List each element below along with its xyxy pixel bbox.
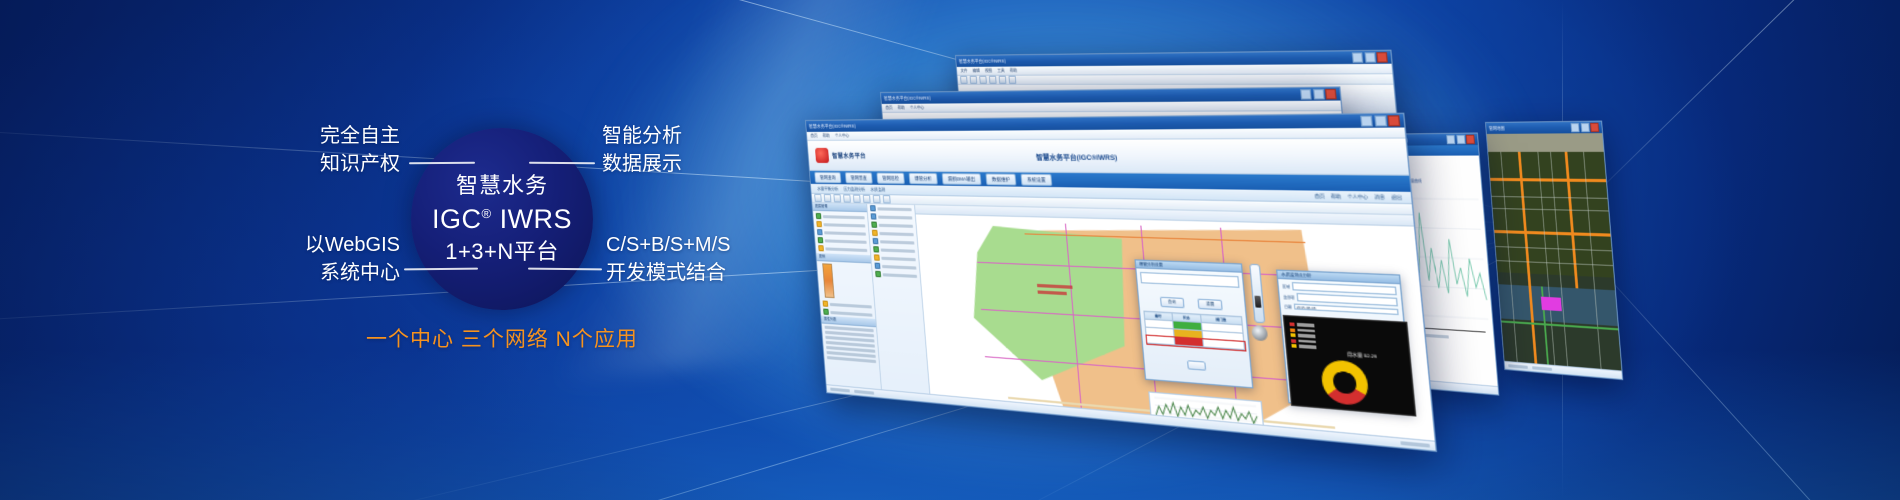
col-header: 编号 bbox=[1144, 311, 1172, 321]
window-title: 智慧水务平台(IGC®IWRS) bbox=[959, 58, 1006, 64]
window-controls[interactable] bbox=[1360, 115, 1400, 126]
hub-line-1: 智慧水务 bbox=[456, 175, 548, 197]
dialog-result-table: 编号 状态 阀门数 bbox=[1143, 311, 1245, 351]
label-top-left: 完全自主 知识产权 bbox=[226, 123, 400, 178]
status-text bbox=[1508, 364, 1528, 369]
map-highlight-area bbox=[1541, 297, 1562, 312]
donut-value-label: 用水量 52.29 bbox=[1347, 351, 1377, 360]
titlebar[interactable]: 管网地图 bbox=[1486, 122, 1602, 134]
menu-item[interactable]: 工具 bbox=[997, 68, 1005, 74]
dialog-query-button[interactable]: 查询 bbox=[1160, 297, 1185, 309]
tool-icon[interactable] bbox=[960, 76, 968, 84]
menu-item[interactable]: 首页 bbox=[810, 133, 817, 139]
identify-icon[interactable] bbox=[863, 195, 871, 203]
menu-item[interactable]: 编辑 bbox=[972, 68, 979, 74]
status-text bbox=[1400, 441, 1430, 448]
label-line-1: 完全自主 bbox=[320, 125, 400, 147]
nav-item[interactable]: 管网查询 bbox=[814, 172, 841, 183]
label-bottom-right: C/S+B/S+M/S 开发模式结合 bbox=[606, 232, 826, 287]
toolbar[interactable] bbox=[957, 74, 1393, 85]
field-input[interactable] bbox=[1297, 293, 1398, 306]
zoom-out-icon[interactable] bbox=[843, 194, 851, 202]
menu-item[interactable]: 个人中心 bbox=[910, 105, 925, 111]
corner-link[interactable]: 帮助 bbox=[1331, 193, 1342, 200]
col-header: 阀门数 bbox=[1200, 314, 1242, 325]
nav-item[interactable]: 管网巡检 bbox=[876, 172, 905, 184]
pan-icon[interactable] bbox=[824, 194, 832, 202]
dialog-title: 爆管分析设置 bbox=[1136, 260, 1242, 272]
window-controls[interactable] bbox=[1352, 52, 1388, 63]
nav-item[interactable]: 漏损DMA输出 bbox=[942, 173, 982, 185]
window-controls[interactable] bbox=[1571, 123, 1600, 133]
window-title: 智慧水务平台(IGC®IWRS) bbox=[809, 123, 856, 129]
window-title: 智慧水务平台(IGC®IWRS) bbox=[884, 95, 931, 101]
table-row bbox=[1145, 319, 1243, 333]
table-row bbox=[1145, 327, 1243, 341]
map-label bbox=[1038, 290, 1067, 295]
window-satellite-map[interactable]: 管网地图 bbox=[1485, 121, 1621, 378]
menu-item[interactable]: 文件 bbox=[960, 68, 967, 74]
map-pan-control[interactable] bbox=[1251, 325, 1268, 341]
tree-item[interactable] bbox=[872, 270, 920, 281]
satellite-map-canvas[interactable] bbox=[1487, 133, 1622, 370]
donut-chart-panel: 用水量 52.29 bbox=[1283, 315, 1417, 417]
menu-item[interactable]: 视图 bbox=[985, 68, 993, 74]
label-line-1: 智能分析 bbox=[602, 125, 682, 147]
hub-line-3: 1+3+N平台 bbox=[445, 241, 559, 263]
menu-item[interactable]: 帮助 bbox=[897, 105, 904, 111]
status-text bbox=[1532, 366, 1552, 371]
map-zone-green bbox=[966, 225, 1135, 388]
corner-link[interactable]: 首页 bbox=[1314, 192, 1325, 199]
window-title: 管网地图 bbox=[1489, 125, 1505, 131]
corner-link[interactable]: 个人中心 bbox=[1347, 193, 1368, 201]
nav-item[interactable]: 管网普查 bbox=[845, 172, 873, 184]
window-front-gis[interactable]: 智慧水务平台(IGC®IWRS) 首页 帮助 个人中心 智慧水务平台 智慧水务平… bbox=[805, 113, 1434, 450]
label-line-2: 系统中心 bbox=[220, 260, 400, 288]
print-icon[interactable] bbox=[873, 195, 881, 203]
corner-link[interactable]: 退出 bbox=[1391, 193, 1402, 201]
table-row bbox=[1146, 335, 1244, 350]
dialog-water-quality[interactable]: 水质监测点分析 区域 监测项 日期 bbox=[1276, 269, 1413, 413]
nav-item[interactable]: 数据维护 bbox=[985, 173, 1016, 185]
subnav-item[interactable]: 压力监测分析 bbox=[843, 186, 865, 192]
field-input[interactable] bbox=[1292, 282, 1397, 295]
corner-link[interactable]: 消息 bbox=[1374, 193, 1385, 201]
nav-item[interactable]: 系统设置 bbox=[1020, 174, 1052, 186]
donut-ring bbox=[1320, 359, 1370, 406]
hub-circle: 智慧水务 IGC® IWRS 1+3+N平台 bbox=[411, 128, 593, 310]
date-input[interactable]: 2015-08-08 bbox=[1294, 304, 1399, 316]
tool-icon[interactable] bbox=[979, 76, 987, 84]
layers-icon[interactable] bbox=[883, 195, 891, 203]
status-text bbox=[830, 388, 850, 393]
hub-line-2: IGC® IWRS bbox=[432, 206, 572, 233]
label-line-1: 以WebGIS bbox=[305, 234, 400, 256]
subnav-item[interactable]: 水量平衡分析 bbox=[817, 185, 838, 191]
tagline: 一个中心 三个网络 N个应用 bbox=[366, 323, 638, 353]
tool-icon[interactable] bbox=[1008, 76, 1016, 84]
menu-item[interactable]: 帮助 bbox=[822, 133, 829, 139]
field-label: 区域 bbox=[1282, 283, 1290, 288]
tool-icon[interactable] bbox=[989, 76, 997, 84]
menu-item[interactable]: 帮助 bbox=[1010, 68, 1018, 74]
menu-item[interactable]: 个人中心 bbox=[835, 133, 850, 139]
field-label: 日期 bbox=[1284, 304, 1292, 309]
dialog-ok-button[interactable] bbox=[1187, 360, 1206, 371]
menu-item[interactable]: 首页 bbox=[885, 105, 892, 111]
measure-icon[interactable] bbox=[853, 195, 861, 203]
field-label: 监测项 bbox=[1283, 294, 1294, 299]
map-zoom-slider[interactable] bbox=[1249, 264, 1265, 324]
hub-iwrs-text: IWRS bbox=[500, 204, 573, 234]
registered-icon: ® bbox=[481, 206, 491, 221]
dialog-title: 水质监测点分析 bbox=[1277, 271, 1399, 285]
window-controls[interactable] bbox=[1446, 135, 1475, 145]
map-label bbox=[1037, 284, 1073, 289]
hub-igc-text: IGC bbox=[432, 204, 482, 234]
tool-icon[interactable] bbox=[999, 76, 1007, 84]
brand-bar: 智慧水务平台 智慧水务平台(IGC®IWRS) bbox=[807, 139, 1409, 176]
app-logo-icon bbox=[815, 148, 829, 163]
label-bottom-left: 以WebGIS 系统中心 bbox=[220, 232, 400, 287]
col-header: 状态 bbox=[1172, 313, 1201, 323]
label-line-2: 知识产权 bbox=[226, 151, 400, 179]
status-text bbox=[854, 390, 874, 395]
pointer-icon[interactable] bbox=[814, 194, 822, 202]
app-header-title: 智慧水务平台(IGC®IWRS) bbox=[1036, 150, 1118, 161]
subnav-item[interactable]: 水质监测 bbox=[870, 186, 885, 192]
zoom-in-icon[interactable] bbox=[833, 194, 841, 202]
label-line-1: C/S+B/S+M/S bbox=[606, 234, 731, 256]
brand-name: 智慧水务平台 bbox=[832, 151, 866, 160]
donut-legend bbox=[1289, 322, 1316, 349]
nav-item[interactable]: 爆管分析 bbox=[909, 173, 938, 185]
window-controls[interactable] bbox=[1300, 89, 1337, 100]
label-line-2: 数据展示 bbox=[602, 151, 802, 179]
dialog-reset-button[interactable]: 重置 bbox=[1198, 299, 1223, 311]
label-top-right: 智能分析 数据展示 bbox=[602, 123, 802, 178]
banner-stage: 智慧水务平台(IGC®IWRS) 文件 编辑 视图 工具 帮助 bbox=[0, 0, 1900, 500]
label-line-2: 开发模式结合 bbox=[606, 260, 826, 288]
dialog-burst-analysis[interactable]: 爆管分析设置 查询 重置 编号 状态 阀门数 bbox=[1134, 259, 1253, 388]
tool-icon[interactable] bbox=[970, 76, 978, 84]
